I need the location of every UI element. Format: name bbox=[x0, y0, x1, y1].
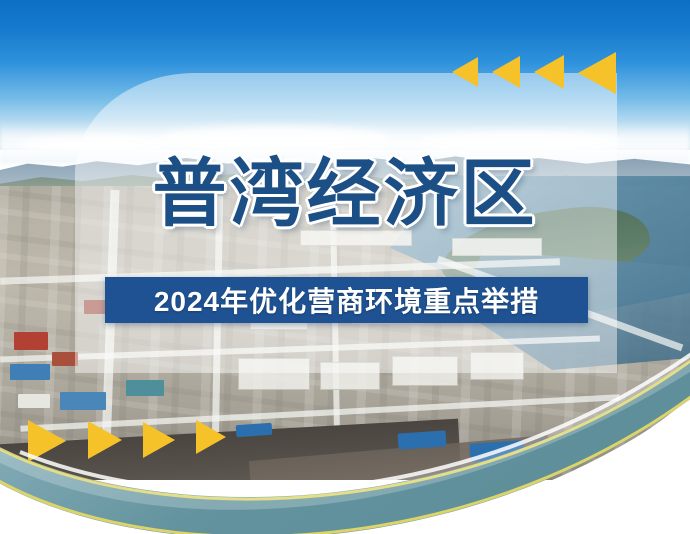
blue-container bbox=[540, 437, 581, 454]
roof-blue bbox=[10, 364, 50, 380]
roof-blue bbox=[60, 392, 106, 410]
blue-container bbox=[398, 430, 447, 449]
roof-red bbox=[14, 332, 48, 350]
subtitle-text: 2024年优化营商环境重点举措 bbox=[154, 280, 539, 320]
blue-container bbox=[469, 440, 524, 462]
roof-white bbox=[18, 394, 50, 408]
page-title: 普湾经济区 bbox=[0, 151, 690, 237]
blue-container bbox=[236, 423, 273, 437]
poster-canvas: 普湾经济区 2024年优化营商环境重点举措 bbox=[0, 0, 690, 534]
roof-teal bbox=[126, 380, 164, 396]
subtitle-banner: 2024年优化营商环境重点举措 bbox=[105, 277, 588, 323]
